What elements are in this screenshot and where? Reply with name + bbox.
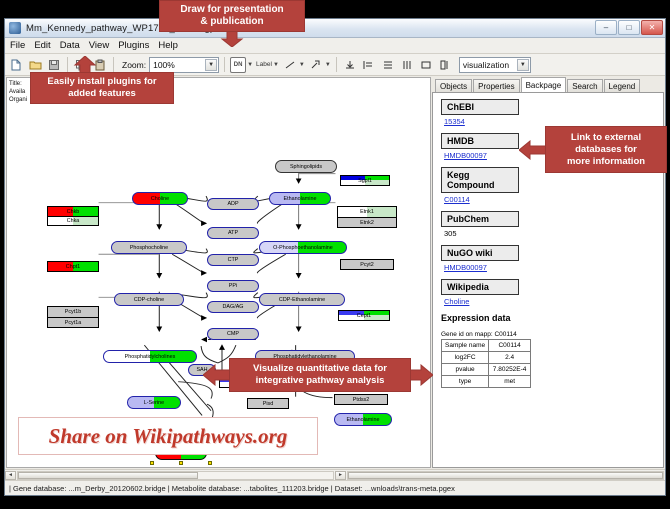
label-tool-text: Label — [256, 61, 272, 68]
callout-plugins: Easily install plugins for added feature… — [30, 72, 174, 104]
scroll-track-canvas[interactable] — [17, 471, 334, 480]
db-header-wikipedia: Wikipedia — [441, 279, 519, 295]
table-row: Sample name C00114 — [442, 340, 531, 352]
chevron-down-icon[interactable]: ▼ — [517, 59, 529, 71]
gene-label: Etnk2 — [360, 220, 374, 226]
share-banner-text: Share on Wikipathways.org — [49, 424, 288, 449]
node-label: CTP — [228, 257, 239, 263]
datanode-tool[interactable]: DN ▼ — [230, 57, 253, 73]
status-text: | Gene database: ...m_Derby_20120602.bri… — [9, 484, 455, 493]
gene-ptdss2[interactable]: Ptdss2 — [334, 394, 388, 405]
tab-objects[interactable]: Objects — [435, 79, 472, 92]
node-label: PPi — [229, 283, 237, 289]
callout-draw-line2: & publication — [180, 16, 283, 28]
gene-pcyt1b[interactable]: Pcyt1b — [47, 306, 99, 317]
order-icon[interactable] — [437, 57, 453, 73]
gene-label: Pcyt1a — [65, 320, 81, 326]
gene-label: Etnk1 — [360, 209, 374, 215]
node-cdp-ethanolamine[interactable]: CDP-Ethanolamine — [259, 293, 345, 306]
callout-links: Link to external databases for more info… — [545, 126, 667, 173]
minimize-button[interactable]: – — [595, 20, 617, 35]
visualization-value: visualization — [463, 60, 509, 70]
callout-draw: Draw for presentation & publication — [159, 0, 305, 32]
node-choline-top[interactable]: Choline — [132, 192, 188, 205]
node-label: Phosphatidylcholines — [125, 354, 176, 360]
db-link-nugo-wiki[interactable]: HMDB00097 — [444, 263, 657, 272]
scroll-track-panel[interactable] — [347, 471, 664, 480]
status-bar: | Gene database: ...m_Derby_20120602.bri… — [5, 480, 665, 495]
side-panel-tabs[interactable]: Objects Properties Backpage Search Legen… — [432, 77, 664, 92]
datanode-icon[interactable]: DN — [230, 57, 246, 73]
db-link-wikipedia[interactable]: Choline — [444, 297, 657, 306]
gene-etnk2[interactable]: Etnk2 — [337, 217, 397, 228]
gene-pcyt1a[interactable]: Pcyt1a — [47, 317, 99, 328]
gene-label: Chkb — [67, 209, 80, 215]
callout-plugins-line2: added features — [47, 88, 156, 100]
node-label: DAG/AG — [223, 304, 244, 310]
expr-key-log2fc: log2FC — [442, 352, 489, 364]
visualization-combobox[interactable]: visualization ▼ — [459, 57, 531, 73]
callout-plugins-line1: Easily install plugins for — [47, 76, 156, 88]
distribute-horizontal-icon[interactable] — [399, 57, 415, 73]
pathway-info: Title: Availa Organi — [9, 80, 27, 104]
node-cdp-choline[interactable]: CDP-choline — [114, 293, 184, 306]
db-header-chebi: ChEBI — [441, 99, 519, 115]
expression-data-title: Expression data — [441, 313, 657, 323]
node-cmp[interactable]: CMP — [207, 328, 259, 340]
app-icon — [9, 22, 21, 34]
gene-label: Pcyt1b — [65, 309, 81, 315]
receptor-tool[interactable]: ▼ — [308, 57, 331, 73]
line-tool[interactable]: ▼ — [282, 57, 305, 73]
tab-legend[interactable]: Legend — [604, 79, 641, 92]
line-icon[interactable] — [282, 57, 298, 73]
gene-id-line: Gene id on mapp: C00114 — [441, 331, 657, 338]
callout-visualize-line1: Visualize quantitative data for — [253, 363, 387, 375]
chevron-down-icon[interactable]: ▼ — [325, 62, 331, 68]
table-row: pvalue 7.80252E-4 — [442, 364, 531, 376]
pathway-edges — [7, 78, 430, 467]
menu-item-edit[interactable]: Edit — [34, 40, 50, 51]
menu-bar[interactable]: File Edit Data View Plugins Help — [5, 38, 665, 54]
scroll-left-arrow[interactable]: ◄ — [5, 471, 16, 480]
toolbar-separator — [113, 57, 114, 72]
toolbar-separator — [67, 57, 68, 72]
callout-links-line2: databases for — [567, 144, 645, 156]
receptor-icon[interactable] — [308, 57, 324, 73]
menu-item-help[interactable]: Help — [158, 40, 178, 51]
chevron-down-icon[interactable]: ▼ — [247, 62, 253, 68]
tab-search[interactable]: Search — [567, 79, 602, 92]
maximize-button[interactable]: □ — [618, 20, 640, 35]
group-icon[interactable] — [418, 57, 434, 73]
table-row: log2FC 2.4 — [442, 352, 531, 364]
callout-links-line1: Link to external — [567, 132, 645, 144]
node-phosphocholine[interactable]: Phosphocholine — [111, 241, 187, 254]
node-label: CDP-choline — [134, 297, 164, 303]
tab-backpage[interactable]: Backpage — [521, 77, 567, 92]
db-header-pubchem: PubChem — [441, 211, 519, 227]
node-o-phosphoethanolamine[interactable]: O-Phosphoethanolamine — [259, 241, 347, 254]
callout-visualize-arrow-left-icon — [203, 364, 231, 386]
callout-visualize-arrow-right-icon — [409, 364, 433, 386]
new-file-icon[interactable] — [8, 57, 24, 73]
menu-item-data[interactable]: Data — [60, 40, 80, 51]
pathway-info-title: Title: — [9, 80, 27, 88]
expr-key-sample-name: Sample name — [442, 340, 489, 352]
window-controls[interactable]: – □ ✕ — [595, 20, 663, 35]
node-label: O-Phosphoethanolamine — [273, 245, 333, 251]
node-atp[interactable]: ATP — [207, 227, 259, 239]
table-row: type met — [442, 376, 531, 388]
pathway-canvas[interactable]: Title: Availa Organi — [6, 77, 431, 468]
db-link-kegg-compound[interactable]: C00114 — [444, 195, 657, 204]
callout-links-arrow-icon — [519, 140, 547, 160]
chevron-down-icon[interactable]: ▼ — [273, 62, 279, 68]
node-label: ATP — [228, 230, 238, 236]
align-top-icon[interactable] — [342, 57, 358, 73]
node-label: L-Serine — [144, 400, 164, 406]
node-ethanolamine-top[interactable]: Ethanolamine — [269, 192, 331, 205]
resize-handle-sw[interactable] — [150, 461, 154, 465]
gene-pcyt2[interactable]: Pcyt2 — [340, 259, 394, 270]
gene-label: Ptdss2 — [353, 397, 369, 403]
toolbar-separator — [224, 57, 225, 72]
gene-label: Sgpl1 — [358, 178, 372, 184]
zoom-value: 100% — [153, 60, 175, 70]
node-label: Ethanolamine — [347, 417, 380, 423]
db-header-kegg-compound: Kegg Compound — [441, 167, 519, 193]
scroll-right-arrow[interactable]: ► — [335, 471, 346, 480]
scroll-thumb-canvas[interactable] — [18, 472, 198, 479]
gene-chpt1[interactable]: Chpt1 — [47, 261, 99, 272]
resize-handle-s[interactable] — [179, 461, 183, 465]
expr-key-type: type — [442, 376, 489, 388]
node-ethanolamine-bottom[interactable]: Ethanolamine — [334, 413, 392, 426]
pathway-info-availability: Availa — [9, 88, 27, 96]
gene-label: Pcyt2 — [360, 262, 373, 268]
expr-key-pvalue: pvalue — [442, 364, 489, 376]
open-folder-icon[interactable] — [27, 57, 43, 73]
expr-val-pvalue: 7.80252E-4 — [489, 364, 531, 376]
node-ctp[interactable]: CTP — [207, 254, 259, 266]
gene-etnk1[interactable]: Etnk1 — [337, 206, 397, 217]
menu-item-plugins[interactable]: Plugins — [118, 40, 149, 51]
node-label: Ethanolamine — [284, 196, 317, 202]
save-icon[interactable] — [46, 57, 62, 73]
node-adp[interactable]: ADP — [207, 198, 259, 210]
zoom-label: Zoom: — [122, 60, 146, 70]
node-dag-ag[interactable]: DAG/AG — [207, 301, 259, 313]
chevron-down-icon[interactable]: ▼ — [205, 59, 217, 71]
db-header-nugo-wiki: NuGO wiki — [441, 245, 519, 261]
scroll-thumb-panel[interactable] — [348, 472, 663, 479]
gene-chka[interactable]: Chka — [47, 216, 99, 226]
node-sphingolipids[interactable]: Sphingolipids — [275, 160, 337, 173]
gene-chkb[interactable]: Chkb — [47, 206, 99, 216]
gene-cept1[interactable]: Cept1 — [338, 310, 390, 321]
gene-label: Chka — [67, 218, 80, 224]
expression-table: Sample name C00114 log2FC 2.4 pvalue 7.8… — [441, 339, 531, 388]
tab-properties[interactable]: Properties — [473, 79, 519, 92]
callout-visualize-line2: integrative pathway analysis — [253, 375, 387, 387]
gene-label: Chpt1 — [66, 264, 80, 270]
expr-val-type: met — [489, 376, 531, 388]
db-link-chebi[interactable]: 15354 — [444, 117, 657, 126]
gene-sgpl1[interactable]: Sgpl1 — [340, 175, 390, 186]
toolbar-separator — [336, 57, 337, 72]
node-label: Choline — [151, 196, 169, 202]
node-label: CDP-Ethanolamine — [279, 297, 325, 303]
callout-visualize: Visualize quantitative data for integrat… — [229, 358, 411, 392]
menu-item-view[interactable]: View — [89, 40, 109, 51]
node-phosphatidylcholines[interactable]: Phosphatidylcholines — [103, 350, 197, 363]
db-header-hmdb: HMDB — [441, 133, 519, 149]
share-banner: Share on Wikipathways.org — [18, 417, 318, 455]
distribute-vertical-icon[interactable] — [380, 57, 396, 73]
gene-pisd[interactable]: Pisd — [247, 398, 289, 409]
expr-val-sample-name: C00114 — [489, 340, 531, 352]
menu-item-file[interactable]: File — [10, 40, 25, 51]
resize-handle-se[interactable] — [208, 461, 212, 465]
zoom-combobox[interactable]: 100% ▼ — [149, 57, 219, 73]
node-ppi[interactable]: PPi — [207, 280, 259, 292]
callout-links-line3: more information — [567, 156, 645, 168]
chevron-down-icon[interactable]: ▼ — [299, 62, 305, 68]
label-tool[interactable]: Label ▼ — [256, 61, 279, 68]
gene-label: Pisd — [263, 401, 274, 407]
node-label: Phosphocholine — [130, 245, 168, 251]
pathway-info-organism: Organi — [9, 96, 27, 104]
gene-label: Cept1 — [357, 313, 371, 319]
node-label: CMP — [227, 331, 239, 337]
callout-draw-arrow-icon — [218, 31, 246, 47]
node-l-serine-left[interactable]: L-Serine — [127, 396, 181, 409]
title-bar: Mm_Kennedy_pathway_WP1771_45176.gpml – □… — [5, 19, 665, 38]
horizontal-scrollbar[interactable]: ◄ ► — [5, 469, 665, 480]
close-button[interactable]: ✕ — [641, 20, 663, 35]
expr-val-log2fc: 2.4 — [489, 352, 531, 364]
callout-draw-line1: Draw for presentation — [180, 4, 283, 16]
db-value-pubchem: 305 — [444, 229, 657, 238]
align-left-icon[interactable] — [361, 57, 377, 73]
node-label: ADP — [227, 201, 238, 207]
node-label: Sphingolipids — [290, 164, 322, 170]
